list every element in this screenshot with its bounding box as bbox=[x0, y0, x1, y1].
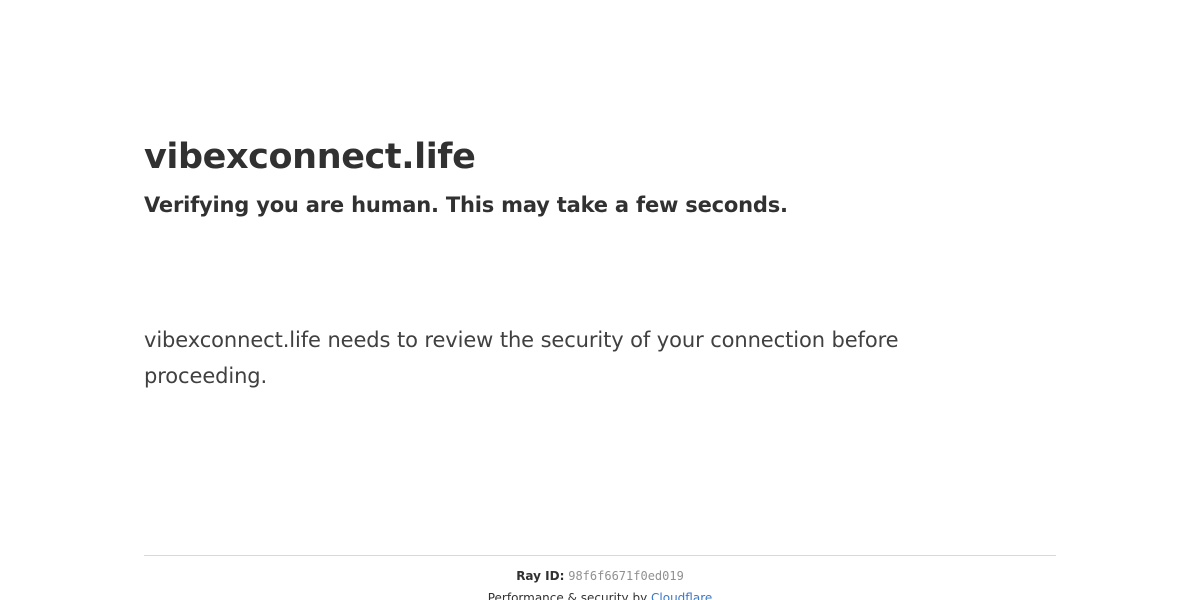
challenge-description: vibexconnect.life needs to review the se… bbox=[144, 322, 944, 394]
cloudflare-link[interactable]: Cloudflare bbox=[651, 591, 712, 600]
challenge-page: vibexconnect.life Verifying you are huma… bbox=[0, 0, 1200, 600]
verification-status-text: Verifying you are human. This may take a… bbox=[144, 192, 788, 219]
page-title: vibexconnect.life bbox=[144, 136, 475, 178]
ray-id-label: Ray ID: bbox=[516, 569, 564, 583]
challenge-content: vibexconnect.life Verifying you are huma… bbox=[144, 0, 1056, 600]
turnstile-verification-widget[interactable] bbox=[144, 240, 474, 314]
page-footer: Ray ID: 98f6f6671f0ed019 Performance & s… bbox=[144, 556, 1056, 600]
attribution-line: Performance & security by Cloudflare bbox=[144, 591, 1056, 600]
ray-id-value: 98f6f6671f0ed019 bbox=[568, 569, 684, 583]
attribution-prefix: Performance & security by bbox=[488, 591, 651, 600]
ray-id-line: Ray ID: 98f6f6671f0ed019 bbox=[144, 569, 1056, 584]
